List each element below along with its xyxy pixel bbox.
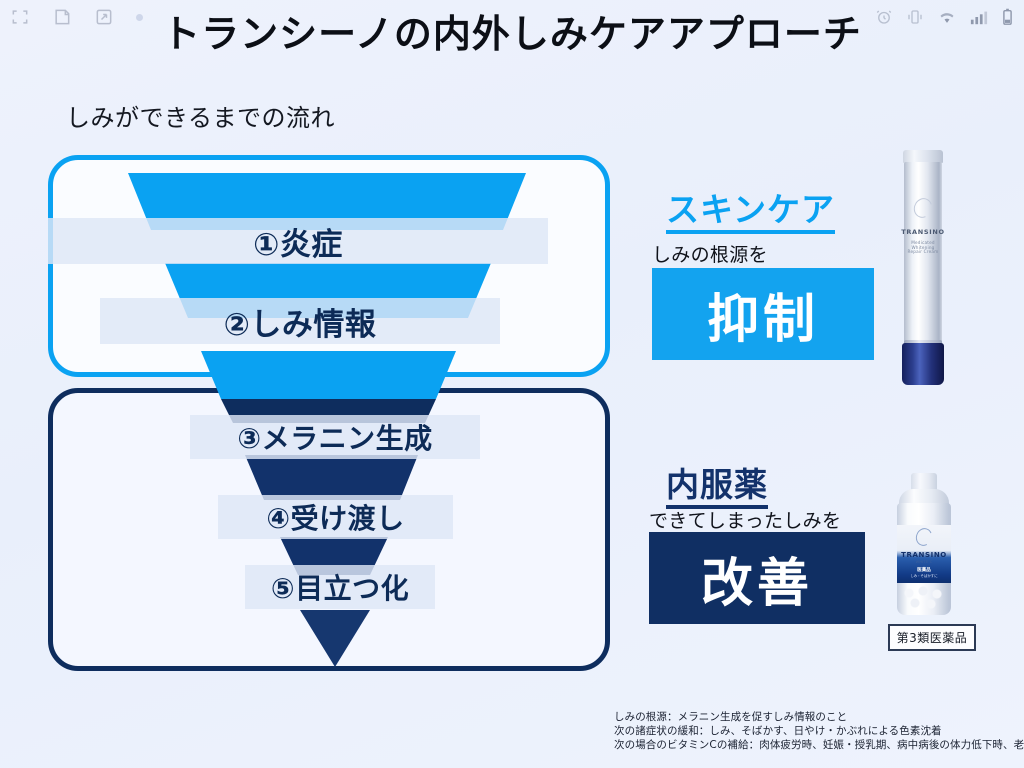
funnel-band-4 bbox=[245, 455, 418, 500]
funnel-step-3: ③メラニン生成 bbox=[190, 415, 480, 459]
drug-class-badge: 第3類医薬品 bbox=[888, 624, 976, 651]
footnote-line-1: しみの根源：メラニン生成を促すしみ情報のこと bbox=[614, 710, 1014, 724]
bottle-brand-label: TRANSINO bbox=[897, 551, 951, 559]
footnote-line-3: 次の場合のビタミンCの補給：肉体疲労時、妊娠・授乳期、病中病後の体力低下時、老年… bbox=[614, 738, 1014, 752]
skincare-heading: スキンケア bbox=[666, 183, 835, 233]
funnel-step-1: ①炎症 bbox=[48, 218, 548, 264]
slide-screenshot: トランシーノの内外しみケアアプローチ しみができるまでの流れ ①炎症 ②しみ情報… bbox=[0, 0, 1024, 768]
bottle-product-sub: WHITE C bbox=[897, 560, 951, 564]
product-tube-image: TRANSINO Medicated Whitening Repair Crea… bbox=[901, 150, 945, 380]
skincare-action-badge: 抑制 bbox=[652, 268, 874, 360]
tube-cap bbox=[902, 343, 944, 385]
funnel-step-5: ⑤目立つ化 bbox=[245, 565, 435, 609]
tube-product-line2: Repair Cream bbox=[901, 249, 945, 254]
funnel-step-2: ②しみ情報 bbox=[100, 298, 500, 344]
oral-medicine-subtext: できてしまったしみを bbox=[649, 506, 841, 533]
tube-brand-label: TRANSINO bbox=[901, 228, 945, 236]
slide-title: トランシーノの内外しみケアアプローチ bbox=[0, 8, 1024, 60]
footnote-line-2: 次の諸症状の緩和：しみ、そばかす、日やけ・かぶれによる色素沈着 bbox=[614, 724, 1014, 738]
funnel-section-subtitle: しみができるまでの流れ bbox=[66, 98, 335, 133]
bottle-label: TRANSINO WHITE C 医薬品 しみ・そばかすに bbox=[897, 525, 951, 583]
funnel-band-3 bbox=[201, 351, 456, 399]
oral-medicine-action-badge: 改善 bbox=[649, 532, 865, 624]
bottle-swirl-motif bbox=[913, 526, 934, 548]
bottle-pills bbox=[901, 585, 947, 613]
bottle-label-line2: しみ・そばかすに bbox=[897, 573, 951, 578]
funnel-step-4: ④受け渡し bbox=[218, 495, 453, 539]
tube-body bbox=[904, 162, 942, 348]
footnotes: しみの根源：メラニン生成を促すしみ情報のこと 次の諸症状の緩和：しみ、そばかす、… bbox=[614, 710, 1014, 752]
product-bottle-image: TRANSINO WHITE C 医薬品 しみ・そばかすに bbox=[893, 473, 955, 621]
skincare-subtext: しみの根源を bbox=[652, 240, 768, 267]
funnel-tip bbox=[300, 610, 370, 667]
oral-medicine-heading: 内服薬 bbox=[666, 458, 768, 508]
